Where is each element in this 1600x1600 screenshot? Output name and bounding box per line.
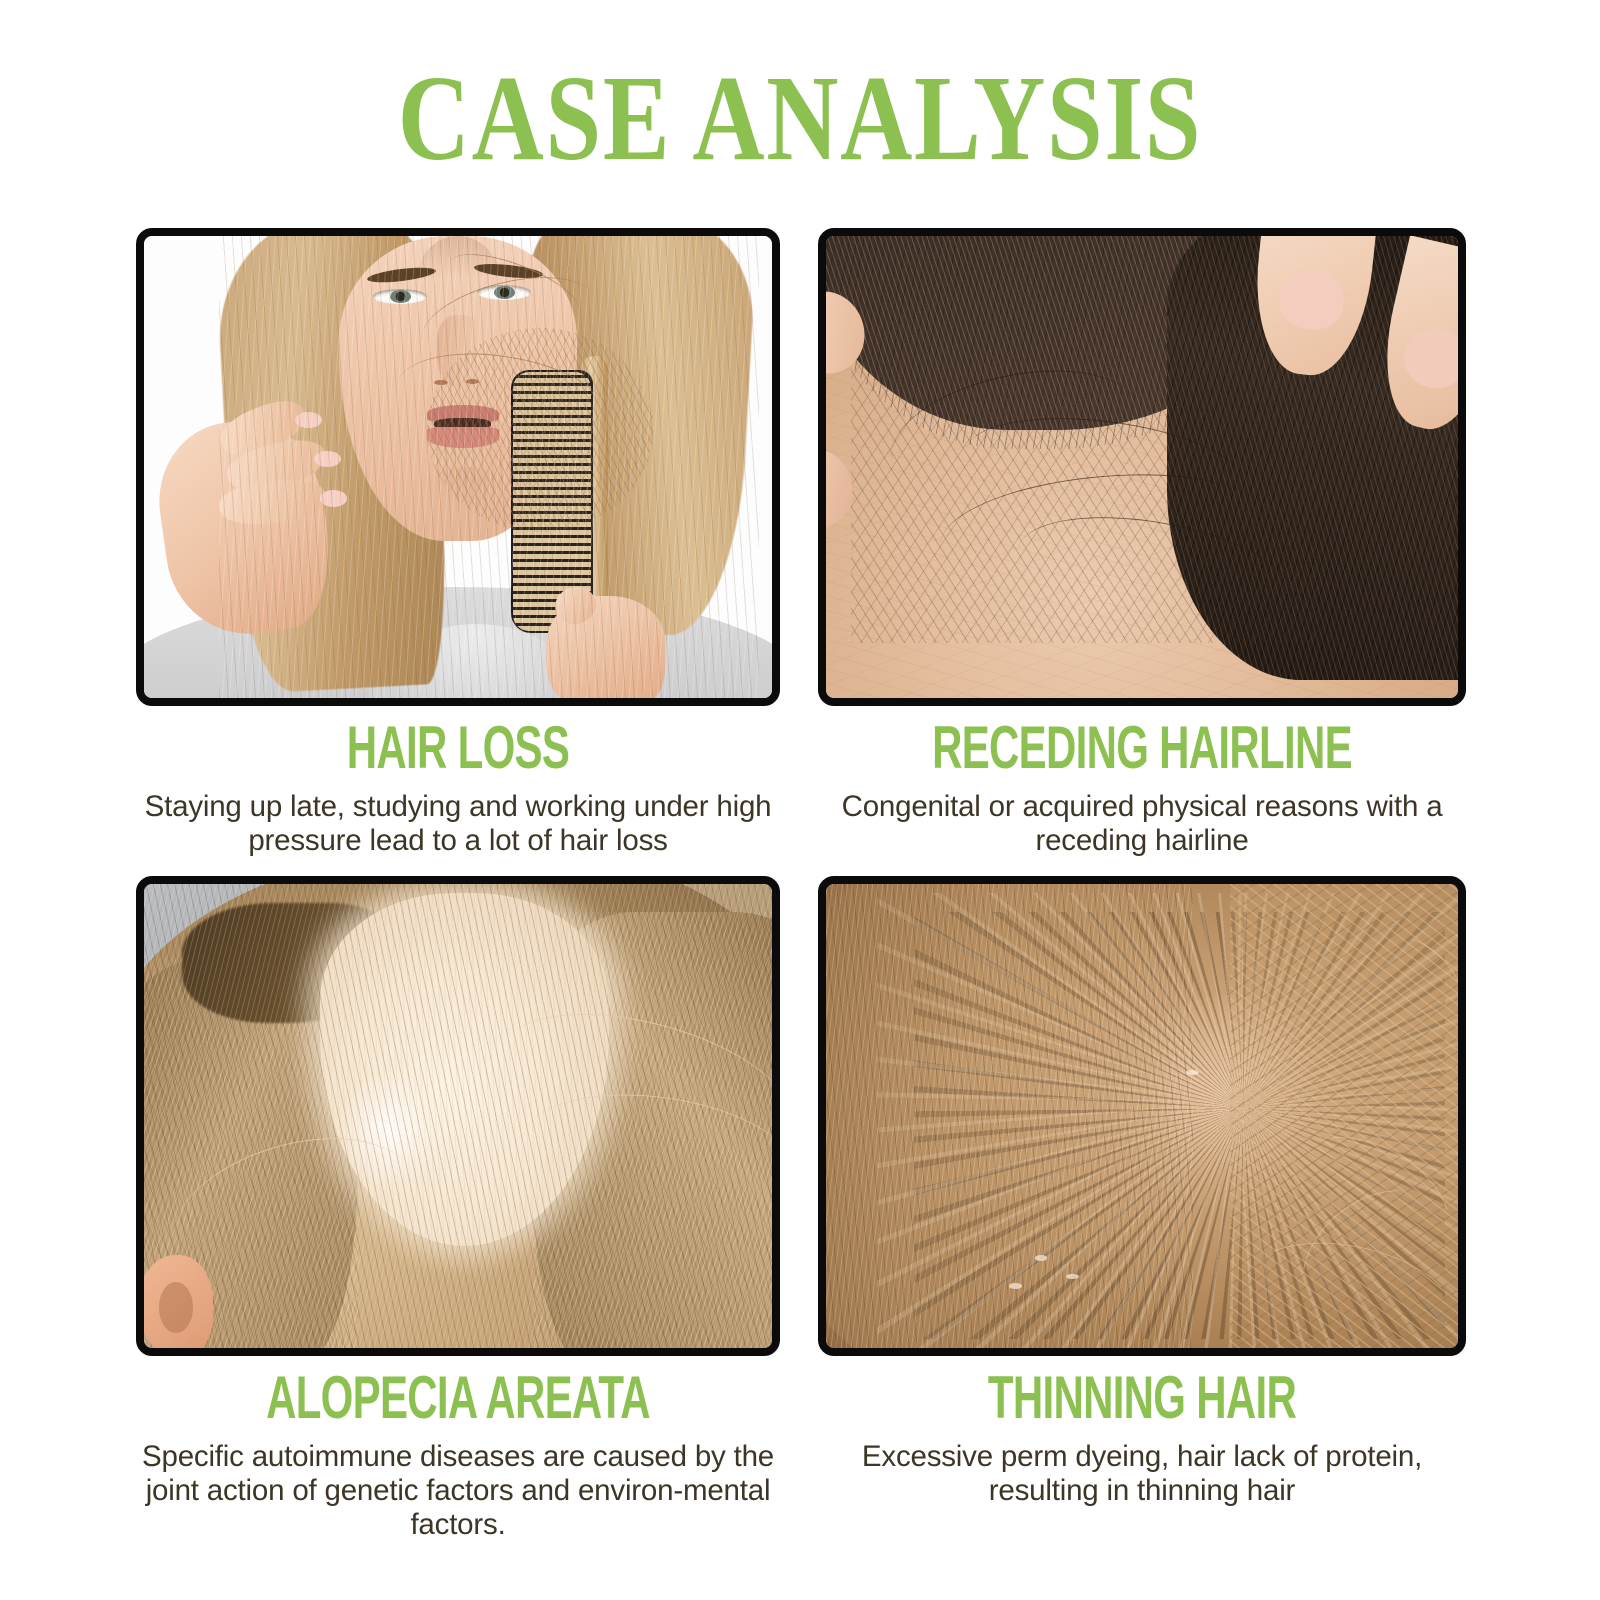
photo-hair-loss-woman-with-brush [144, 236, 772, 698]
case-heading-receding-hairline: RECEDING HAIRLINE [915, 718, 1369, 778]
photo-frame-thinning-hair [818, 876, 1466, 1356]
case-card-hair-loss: HAIR LOSS Staying up late, studying and … [136, 228, 780, 858]
case-card-alopecia-areata: ALOPECIA AREATA Specific autoimmune dise… [136, 876, 780, 1543]
case-grid: HAIR LOSS Staying up late, studying and … [136, 228, 1466, 1578]
scalp-flake-3 [1009, 1283, 1022, 1289]
photo-alopecia-areata-bald-patch [144, 884, 772, 1348]
case-description-receding-hairline: Congenital or acquired physical reasons … [818, 790, 1466, 858]
photo-frame-hair-loss [136, 228, 780, 706]
fingernail-top-right-2 [1399, 323, 1458, 395]
case-description-hair-loss: Staying up late, studying and working un… [136, 790, 780, 858]
chin-shading [420, 467, 508, 513]
case-heading-hair-loss: HAIR LOSS [233, 718, 684, 778]
case-description-thinning-hair: Excessive perm dyeing, hair lack of prot… [818, 1440, 1466, 1508]
fingernail-top-right-1 [1277, 266, 1347, 332]
photo-receding-hairline-closeup [826, 236, 1458, 698]
photo-frame-alopecia-areata [136, 876, 780, 1356]
hair-texture-sweep [826, 884, 1193, 1348]
scalp-flake-1 [1035, 1255, 1048, 1261]
photo-thinning-hair-crown [826, 884, 1458, 1348]
infographic-page: CASE ANALYSIS [0, 0, 1600, 1600]
page-title: CASE ANALYSIS [144, 58, 1456, 180]
ear [144, 1255, 213, 1348]
scalp-flake-4 [1186, 1070, 1199, 1076]
case-card-receding-hairline: RECEDING HAIRLINE Congenital or acquired… [818, 228, 1466, 858]
case-description-alopecia-areata: Specific autoimmune diseases are caused … [136, 1440, 780, 1543]
photo-frame-receding-hairline [818, 228, 1466, 706]
case-card-thinning-hair: THINNING HAIR Excessive perm dyeing, hai… [818, 876, 1466, 1508]
fingernail-3 [320, 490, 348, 507]
case-heading-alopecia-areata: ALOPECIA AREATA [233, 1368, 684, 1428]
case-heading-thinning-hair: THINNING HAIR [915, 1368, 1369, 1428]
